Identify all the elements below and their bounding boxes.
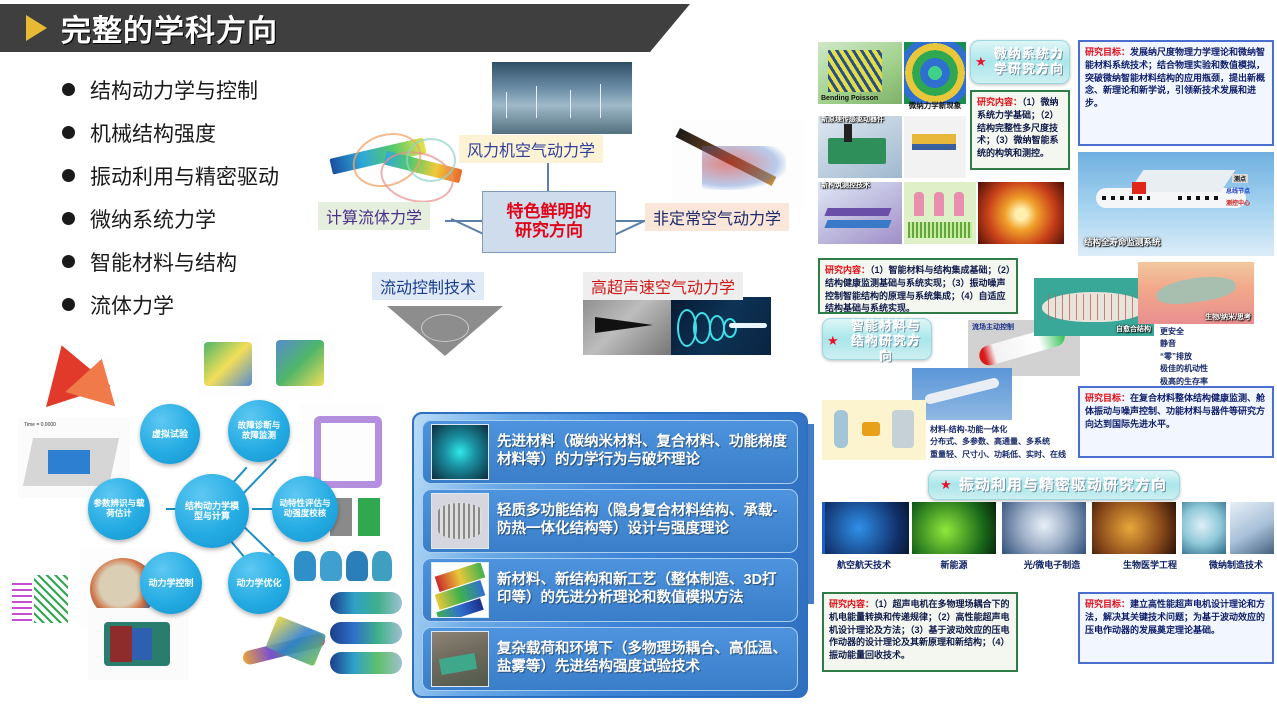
mindmap-node-wind-turbine[interactable]: 风力机空气动力学 — [459, 135, 603, 163]
mindmap-center-line1: 特色鲜明的 — [507, 203, 592, 222]
goal-label: 研究目标： — [1085, 599, 1130, 609]
thermal-nanostructure-image — [978, 182, 1064, 244]
image-caption: 结构全寿命监测系统 — [1084, 236, 1161, 248]
list-item[interactable]: 复杂载荷和环境下（多物理场耦合、高低温、盐雾等）先进结构强度试验技术 — [422, 627, 798, 691]
nodegraph-node-dynamic-control[interactable]: 动力学控制 — [140, 552, 202, 614]
airliner-monitoring-image: 测点 总线节点 测控中心 结构全寿命监测系统 — [1078, 152, 1274, 256]
bullet-dot-icon — [62, 298, 75, 311]
mindmap-node-hypersonic[interactable]: 高超声速空气动力学 — [583, 272, 743, 300]
unsteady-aero-image — [672, 120, 804, 208]
sensor-actuator-device-image: 新原理传感驱动器件 — [818, 116, 902, 178]
bullet-label: 机械结构强度 — [90, 118, 216, 148]
panel-item-label: 轻质多功能结构（隐身复合材料结构、承载-防热一体化结构等）设计与强度理论 — [497, 503, 789, 539]
device-schematic-image — [904, 116, 966, 178]
fem-corrugated-panel-image — [431, 562, 489, 618]
image-caption: 新构筑测控技术 — [821, 182, 870, 190]
list-item: “零”排放 — [1160, 351, 1208, 363]
legend-item: 测控中心 — [1226, 198, 1250, 207]
bullet-label: 智能材料与结构 — [90, 247, 237, 277]
new-fabrication-measurement-image: 新构筑测控技术 — [818, 182, 902, 244]
list-item: 结构动力学与控制 — [62, 68, 392, 111]
sim-time-label: Time = 0.0000 — [24, 422, 56, 428]
banner-label: 智能材料与结构研究方向 — [847, 319, 927, 364]
integration-note: 材料-结构-功能一体化 分布式、多参数、高通量、多系统 重量轻、尺寸小、功耗低、… — [930, 424, 1066, 461]
banner-label: 振动利用与精密驱动研究方向 — [960, 475, 1168, 495]
strip-caption: 微纳制造技术 — [1196, 558, 1276, 571]
list-item: 材料-结构-功能一体化 — [930, 424, 1066, 436]
bio-nano-thinking-image: 生物/纳米/思考 — [1138, 262, 1254, 324]
legend-item: 测点 — [1232, 174, 1248, 183]
image-caption: 自愈合结构 — [1116, 324, 1151, 334]
panel-item-label: 复杂载荷和环境下（多物理场耦合、高低温、盐雾等）先进结构强度试验技术 — [497, 641, 789, 677]
list-item: 流体力学 — [62, 283, 392, 326]
bullet-label: 振动利用与精密驱动 — [90, 161, 279, 191]
nodegraph-node-dynamic-optimization[interactable]: 动力学优化 — [228, 552, 290, 614]
image-caption: 生物/纳米/思考 — [1205, 312, 1251, 322]
strip-caption: 新能源 — [912, 558, 996, 571]
image-caption: 微纳力学新现象 — [898, 100, 972, 111]
structure-test-wreck-image — [431, 631, 489, 687]
smart-materials-banner: ★ 智能材料与结构研究方向 — [822, 318, 932, 360]
micro-nano-manufacturing-image — [1230, 502, 1274, 554]
list-item[interactable]: 轻质多功能结构（隐身复合材料结构、承载-防热一体化结构等）设计与强度理论 — [422, 489, 798, 553]
flow-control-deltawing-image — [375, 300, 515, 362]
optoelectronics-manufacturing-image — [1002, 502, 1086, 554]
micro-nano-banner: ★ 微纳系统力学研究方向 — [970, 40, 1070, 84]
motor-winding-image — [1092, 502, 1176, 554]
mindmap-node-cfd[interactable]: 计算流体力学 — [318, 202, 430, 230]
list-item: 更安全 — [1160, 326, 1208, 338]
cfd-wing-image — [322, 126, 474, 204]
goal-label: 研究目标： — [1085, 47, 1130, 57]
wind-farm-photo — [492, 62, 632, 134]
lattice-cylinder-image — [431, 493, 489, 549]
vibration-banner: ★ 振动利用与精密驱动研究方向 — [928, 470, 1180, 500]
multicolor-aircraft-fem-image — [230, 608, 340, 686]
smart-materials-content-box: 研究内容：（1）智能材料与结构集成基础；（2）结构健康监测基础与系统实现；（3）… — [818, 258, 1018, 314]
aircraft-contour-image-3 — [330, 652, 402, 674]
slide-header: 完整的学科方向 — [0, 4, 690, 52]
content-label: 研究内容： — [825, 265, 870, 275]
strip-caption: 航空航天技术 — [822, 558, 906, 571]
hypersonic-schlieren-image — [583, 297, 671, 355]
nodegraph-node-fault-diagnosis[interactable]: 故障诊断与故障监测 — [228, 400, 290, 462]
bullet-dot-icon — [62, 83, 75, 96]
bullet-label: 结构动力学与控制 — [90, 75, 258, 105]
aerospace-tech-image — [822, 502, 909, 554]
vibration-content-box: 研究内容：（1）超声电机在多物理场耦合下的机电能量转换和传递规律；（2）高性能超… — [822, 592, 1018, 672]
nodegraph-node-parameter-id[interactable]: 参数辨识与载荷估计 — [88, 478, 150, 540]
goal-label: 研究目标： — [1085, 393, 1130, 403]
mindmap-connector — [547, 158, 549, 192]
human-aircraft-sensing-image — [822, 400, 926, 460]
list-item[interactable]: 先进材料（碳纳米材料、复合材料、功能梯度材料等）的力学行为与破坏理论 — [422, 420, 798, 484]
mindmap-center-line2: 研究方向 — [515, 222, 583, 241]
nodegraph-node-virtual-test[interactable]: 虚拟试验 — [140, 404, 200, 464]
vibration-goal-box: 研究目标：建立高性能超声电机设计理论和方法，解决其关键技术问题；为基于波动效应的… — [1078, 592, 1274, 664]
bending-poisson-image: Bending Poisson — [818, 42, 902, 104]
self-healing-structure-image: 自愈合结构 — [1034, 278, 1154, 336]
green-fem-structure-image — [196, 332, 262, 398]
micro-nano-goal-box: 研究目标：发展纳尺度物理力学理论和微纳智能材料系统技术；结合物理实验和数值模拟，… — [1078, 40, 1274, 146]
triangle-play-icon — [26, 15, 47, 41]
list-item: 极佳的机动性 — [1160, 363, 1208, 375]
panel-edge-marker — [808, 424, 814, 604]
bullet-label: 微纳系统力学 — [90, 204, 216, 234]
star-icon: ★ — [940, 477, 954, 493]
nanotip-array-image — [904, 182, 976, 244]
hypersonic-shockwave-image — [671, 297, 771, 355]
strip-caption: 生物医学工程 — [1108, 558, 1192, 571]
panel-item-label: 先进材料（碳纳米材料、复合材料、功能梯度材料等）的力学行为与破坏理论 — [497, 434, 789, 470]
content-label: 研究内容： — [829, 599, 874, 609]
aircraft-contour-image-2 — [330, 622, 402, 644]
red-fem-wing-image — [28, 330, 124, 410]
list-item: 静音 — [1160, 338, 1208, 350]
slide-root: 完整的学科方向 结构动力学与控制 机械结构强度 振动利用与精密驱动 微纳系统力学… — [0, 0, 1277, 718]
smart-materials-goal-box: 研究目标：在复合材料整体结构健康监测、舱体振动与噪声控制、功能材料与器件等研究方… — [1078, 386, 1274, 458]
mindmap-center-node[interactable]: 特色鲜明的 研究方向 — [482, 191, 616, 253]
benefit-list: 更安全 静音 “零”排放 极佳的机动性 极高的生存率 — [1160, 326, 1208, 388]
list-item[interactable]: 新材料、新结构和新工艺（整体制造、3D打印等）的先进分析理论和数值模拟方法 — [422, 558, 798, 622]
bullet-dot-icon — [62, 169, 75, 182]
nodegraph-node-dynamic-eval[interactable]: 动特性评估与动强度校核 — [272, 476, 338, 542]
purple-truss-fem-image — [300, 404, 384, 488]
bullet-dot-icon — [62, 212, 75, 225]
star-icon: ★ — [975, 54, 989, 70]
panel-item-label: 新材料、新结构和新工艺（整体制造、3D打印等）的先进分析理论和数值模拟方法 — [497, 572, 789, 608]
convergence-plot-image — [0, 565, 78, 641]
mindmap-connector — [445, 220, 483, 222]
biomedical-engineering-image — [1182, 502, 1226, 554]
bullet-dot-icon — [62, 126, 75, 139]
bullet-label: 流体力学 — [90, 290, 174, 320]
research-topic-panel: 先进材料（碳纳米材料、复合材料、功能梯度材料等）的力学行为与破坏理论 轻质多功能… — [412, 412, 808, 698]
bullet-dot-icon — [62, 255, 75, 268]
image-caption: 流场主动控制 — [972, 322, 1014, 332]
banner-label: 微纳系统力学研究方向 — [995, 47, 1065, 77]
micro-nano-phenomenon-image — [904, 42, 966, 104]
micro-nano-content-box: 研究内容：（1）微纳系统力学基础；（2）结构完整性多尺度技术；（3）微纳智能系统… — [970, 90, 1070, 170]
legend-item: 总线节点 — [1226, 186, 1250, 195]
mindmap-node-unsteady[interactable]: 非定常空气动力学 — [645, 203, 789, 231]
list-item: 重量轻、尺寸小、功耗低、实时、在线 — [930, 449, 1066, 461]
content-label: 研究内容： — [977, 97, 1022, 107]
modal-contour-strip-image — [290, 545, 396, 589]
aircraft-contour-image-1 — [330, 592, 402, 614]
blended-wing-body-photo — [912, 368, 1012, 420]
strip-caption: 光/微电子制造 — [1002, 558, 1102, 571]
green-fem-structure-image-2 — [268, 330, 334, 400]
carbon-nanostructure-image — [431, 424, 489, 480]
mindmap-node-flow-control[interactable]: 流动控制技术 — [372, 272, 484, 300]
motor-cutaway-image — [88, 608, 188, 680]
list-item: 智能材料与结构 — [62, 240, 392, 283]
new-energy-image — [912, 502, 996, 554]
image-caption: 新原理传感驱动器件 — [821, 116, 884, 124]
star-icon: ★ — [827, 333, 841, 349]
nodegraph-center[interactable]: 结构动力学模型与计算 — [175, 474, 249, 548]
page-title: 完整的学科方向 — [61, 6, 278, 50]
list-item: 分布式、多参数、高通量、多系统 — [930, 436, 1066, 448]
image-caption: Bending Poisson — [821, 95, 878, 102]
